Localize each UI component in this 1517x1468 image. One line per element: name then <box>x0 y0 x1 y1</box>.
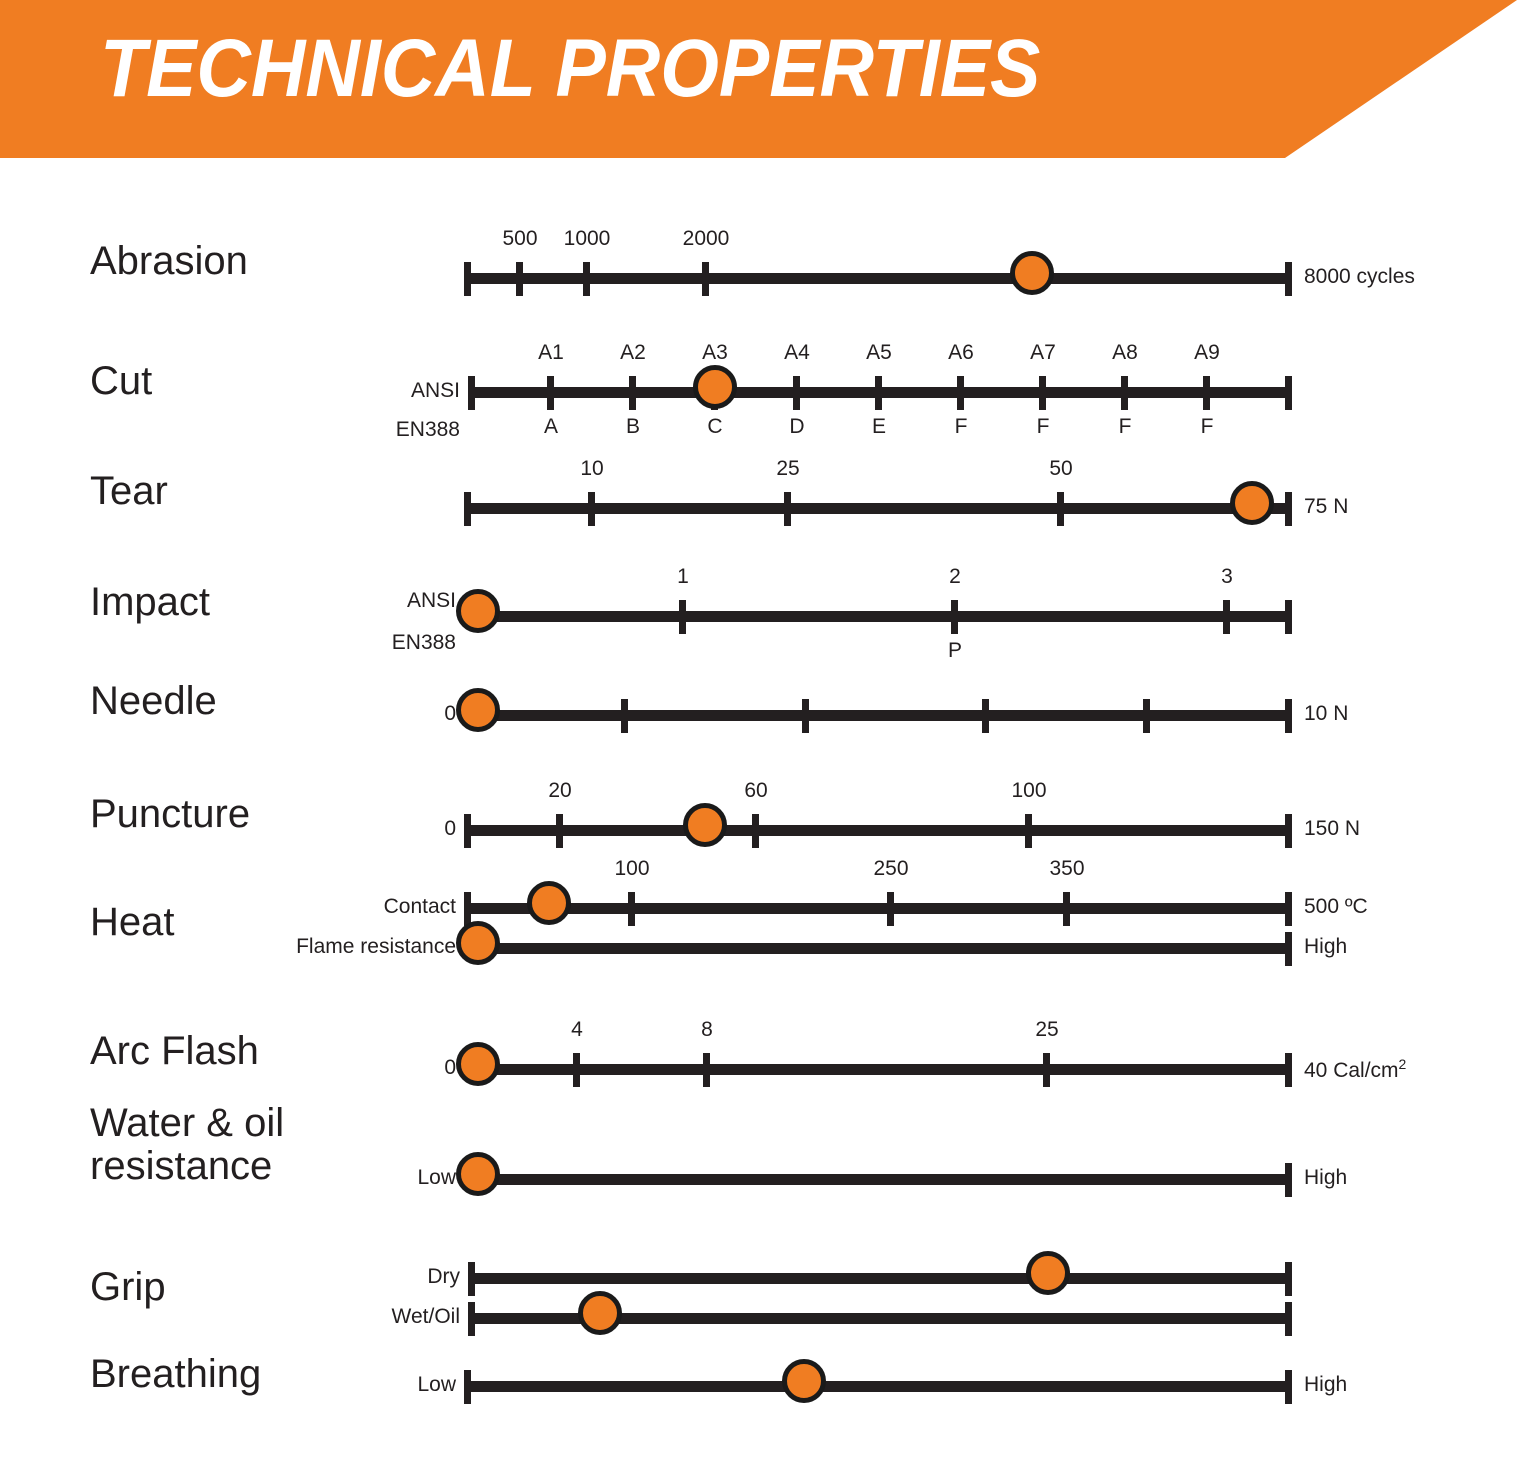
track-end-cap <box>1285 892 1292 926</box>
tick-label: 100 <box>614 857 649 881</box>
row-label-breathing: Breathing <box>90 1353 261 1396</box>
row-label-arc-flash: Arc Flash <box>90 1030 259 1073</box>
tick-label: 350 <box>1049 857 1084 881</box>
tick-mark <box>951 600 958 634</box>
track-end-cap <box>1285 814 1292 848</box>
tick-mark <box>556 814 563 848</box>
tick-label: 1000 <box>564 227 611 251</box>
row-breathing: Breathing Low High <box>0 1363 1517 1468</box>
tick-mark <box>887 892 894 926</box>
track-end-cap <box>1285 699 1292 733</box>
value-marker-water-oil[interactable] <box>456 1152 500 1196</box>
tick-mark <box>703 1053 710 1087</box>
tick-mark <box>1223 600 1230 634</box>
tick-label: A9 <box>1194 341 1220 365</box>
track-end-cap <box>1285 1262 1292 1296</box>
axis-end-label-heat-contact: 500 ºC <box>1304 895 1368 919</box>
value-marker-needle[interactable] <box>456 688 500 732</box>
track-start-cap <box>464 1370 471 1404</box>
track-start-cap <box>468 1302 475 1336</box>
value-marker-cut[interactable] <box>693 365 737 409</box>
row-label-puncture: Puncture <box>90 793 250 836</box>
row-needle: Needle 0 10 N <box>0 648 1517 753</box>
tick-label: 100 <box>1011 779 1046 803</box>
tick-label: 1 <box>677 565 689 589</box>
scale-label-contact: Contact <box>336 895 456 919</box>
tick-mark <box>573 1053 580 1087</box>
tick-mark <box>982 699 989 733</box>
row-water-oil-resistance: Water & oil resistance Low High <box>0 1108 1517 1233</box>
axis-end-label-tear: 75 N <box>1304 495 1348 519</box>
axis-start-label-breathing: Low <box>398 1373 456 1397</box>
scale-label-flame-resistance: Flame resistance <box>274 935 456 959</box>
row-label-impact: Impact <box>90 581 210 624</box>
row-grip: Grip Dry Wet/Oil <box>0 1233 1517 1363</box>
scale-label-wet-oil: Wet/Oil <box>364 1305 460 1329</box>
value-marker-tear[interactable] <box>1230 481 1274 525</box>
track-end-cap <box>1285 1302 1292 1336</box>
tick-label: 2000 <box>683 227 730 251</box>
tick-label: A7 <box>1030 341 1056 365</box>
axis-start-label-needle: 0 <box>418 702 456 726</box>
track-end-cap <box>1285 1163 1292 1197</box>
track-puncture[interactable]: 20 60 100 0 150 N <box>464 825 1292 836</box>
axis-end-label-heat-flame: High <box>1304 935 1347 959</box>
tick-label: A6 <box>948 341 974 365</box>
tick-mark <box>1057 492 1064 526</box>
track-end-cap <box>1285 1053 1292 1087</box>
scale-label-dry: Dry <box>402 1265 460 1289</box>
scale-label-ansi: ANSI <box>396 379 460 403</box>
page-title: TECHNICAL PROPERTIES <box>100 22 1040 116</box>
properties-chart: Abrasion 500 1000 2000 8000 cycles Cut <box>0 158 1517 1441</box>
row-label-grip: Grip <box>90 1266 166 1309</box>
row-label-heat: Heat <box>90 901 175 944</box>
tick-mark <box>802 699 809 733</box>
value-marker-grip-wet-oil[interactable] <box>578 1291 622 1335</box>
track-water-oil-resistance[interactable]: Low High <box>464 1174 1292 1185</box>
tick-mark <box>588 492 595 526</box>
track-end-cap <box>1285 376 1292 410</box>
row-label-cut: Cut <box>90 360 152 403</box>
tick-label: 2 <box>949 565 961 589</box>
tick-mark <box>1025 814 1032 848</box>
tick-mark <box>875 376 882 410</box>
track-tear[interactable]: 10 25 50 75 N <box>464 503 1292 514</box>
row-cut: Cut A1 A2 A3 A4 A5 A6 A7 A8 A9 A B C <box>0 268 1517 398</box>
track-arc-flash[interactable]: 4 8 25 0 40 Cal/cm2 <box>464 1064 1292 1075</box>
axis-start-label-arc-flash: 0 <box>418 1056 456 1080</box>
tick-label: 25 <box>776 457 799 481</box>
axis-start-label-puncture: 0 <box>418 817 456 841</box>
tick-label: A2 <box>620 341 646 365</box>
track-breathing[interactable]: Low High <box>464 1381 1292 1392</box>
tick-label: 250 <box>873 857 908 881</box>
tick-label: 60 <box>744 779 767 803</box>
axis-start-label-water-oil: Low <box>398 1166 456 1190</box>
tick-mark <box>752 814 759 848</box>
tick-mark <box>1063 892 1070 926</box>
track-end-cap <box>1285 1370 1292 1404</box>
tick-label: A8 <box>1112 341 1138 365</box>
tick-mark <box>679 600 686 634</box>
tick-label: 20 <box>548 779 571 803</box>
row-puncture: Puncture 20 60 100 0 150 N <box>0 753 1517 863</box>
track-start-cap <box>468 1262 475 1296</box>
tick-mark <box>957 376 964 410</box>
row-tear: Tear 10 25 50 75 N <box>0 413 1517 518</box>
arc-flash-unit-superscript: 2 <box>1399 1056 1407 1072</box>
tick-mark <box>1121 376 1128 410</box>
tick-label: A5 <box>866 341 892 365</box>
value-marker-grip-dry[interactable] <box>1026 1251 1070 1295</box>
track-heat-flame[interactable]: Flame resistance High <box>464 943 1292 954</box>
track-grip-dry[interactable]: Dry <box>468 1273 1292 1284</box>
row-arc-flash: Arc Flash 4 8 25 0 40 Cal/cm2 <box>0 998 1517 1108</box>
tick-label: A3 <box>702 341 728 365</box>
row-label-water-oil-resistance: Water & oil resistance <box>90 1102 284 1188</box>
track-start-cap <box>468 376 475 410</box>
tick-mark <box>1203 376 1210 410</box>
axis-end-label-arc-flash: 40 Cal/cm2 <box>1304 1056 1406 1083</box>
tick-label: A1 <box>538 341 564 365</box>
track-end-cap <box>1285 492 1292 526</box>
tick-label: 25 <box>1035 1018 1058 1042</box>
value-marker-arc-flash[interactable] <box>456 1042 500 1086</box>
axis-end-label-breathing: High <box>1304 1373 1347 1397</box>
value-marker-heat-flame[interactable] <box>456 921 500 965</box>
page-header: TECHNICAL PROPERTIES <box>0 0 1517 158</box>
row-label-needle: Needle <box>90 680 217 723</box>
row-abrasion: Abrasion 500 1000 2000 8000 cycles <box>0 158 1517 263</box>
tick-label: 500 <box>502 227 537 251</box>
track-end-cap <box>1285 932 1292 966</box>
tick-mark <box>621 699 628 733</box>
row-label-tear: Tear <box>90 470 168 513</box>
tick-mark <box>784 492 791 526</box>
value-marker-puncture[interactable] <box>683 803 727 847</box>
tick-label: 3 <box>1221 565 1233 589</box>
tick-mark <box>793 376 800 410</box>
tick-label: 50 <box>1049 457 1072 481</box>
tick-label: 4 <box>571 1018 583 1042</box>
tick-mark <box>629 376 636 410</box>
axis-end-label-puncture: 150 N <box>1304 817 1360 841</box>
arc-flash-unit-number: 40 Cal/cm <box>1304 1059 1399 1082</box>
track-end-cap <box>1285 600 1292 634</box>
track-needle[interactable]: 0 10 N <box>464 710 1292 721</box>
track-impact[interactable]: 1 2 3 P ANSI EN388 <box>464 611 1292 622</box>
track-start-cap <box>464 814 471 848</box>
row-impact: Impact 1 2 3 P ANSI EN388 <box>0 523 1517 648</box>
tick-mark <box>547 376 554 410</box>
tick-label: 8 <box>701 1018 713 1042</box>
tick-mark <box>628 892 635 926</box>
axis-end-label-water-oil: High <box>1304 1166 1347 1190</box>
track-start-cap <box>464 492 471 526</box>
scale-label-ansi: ANSI <box>392 589 456 613</box>
value-marker-impact[interactable] <box>456 589 500 633</box>
tick-mark <box>1143 699 1150 733</box>
track-cut[interactable]: A1 A2 A3 A4 A5 A6 A7 A8 A9 A B C D E F F… <box>468 387 1292 398</box>
track-start-cap <box>464 892 471 926</box>
value-marker-breathing[interactable] <box>782 1359 826 1403</box>
track-grip-wet-oil[interactable]: Wet/Oil <box>468 1313 1292 1324</box>
tick-label: 10 <box>580 457 603 481</box>
row-heat: Heat 100 250 350 Contact 500 ºC Flame re… <box>0 863 1517 998</box>
tick-mark <box>1039 376 1046 410</box>
axis-end-label-needle: 10 N <box>1304 702 1348 726</box>
value-marker-heat-contact[interactable] <box>527 881 571 925</box>
tick-label: A4 <box>784 341 810 365</box>
tick-mark <box>1043 1053 1050 1087</box>
track-heat-contact[interactable]: 100 250 350 Contact 500 ºC <box>464 903 1292 914</box>
